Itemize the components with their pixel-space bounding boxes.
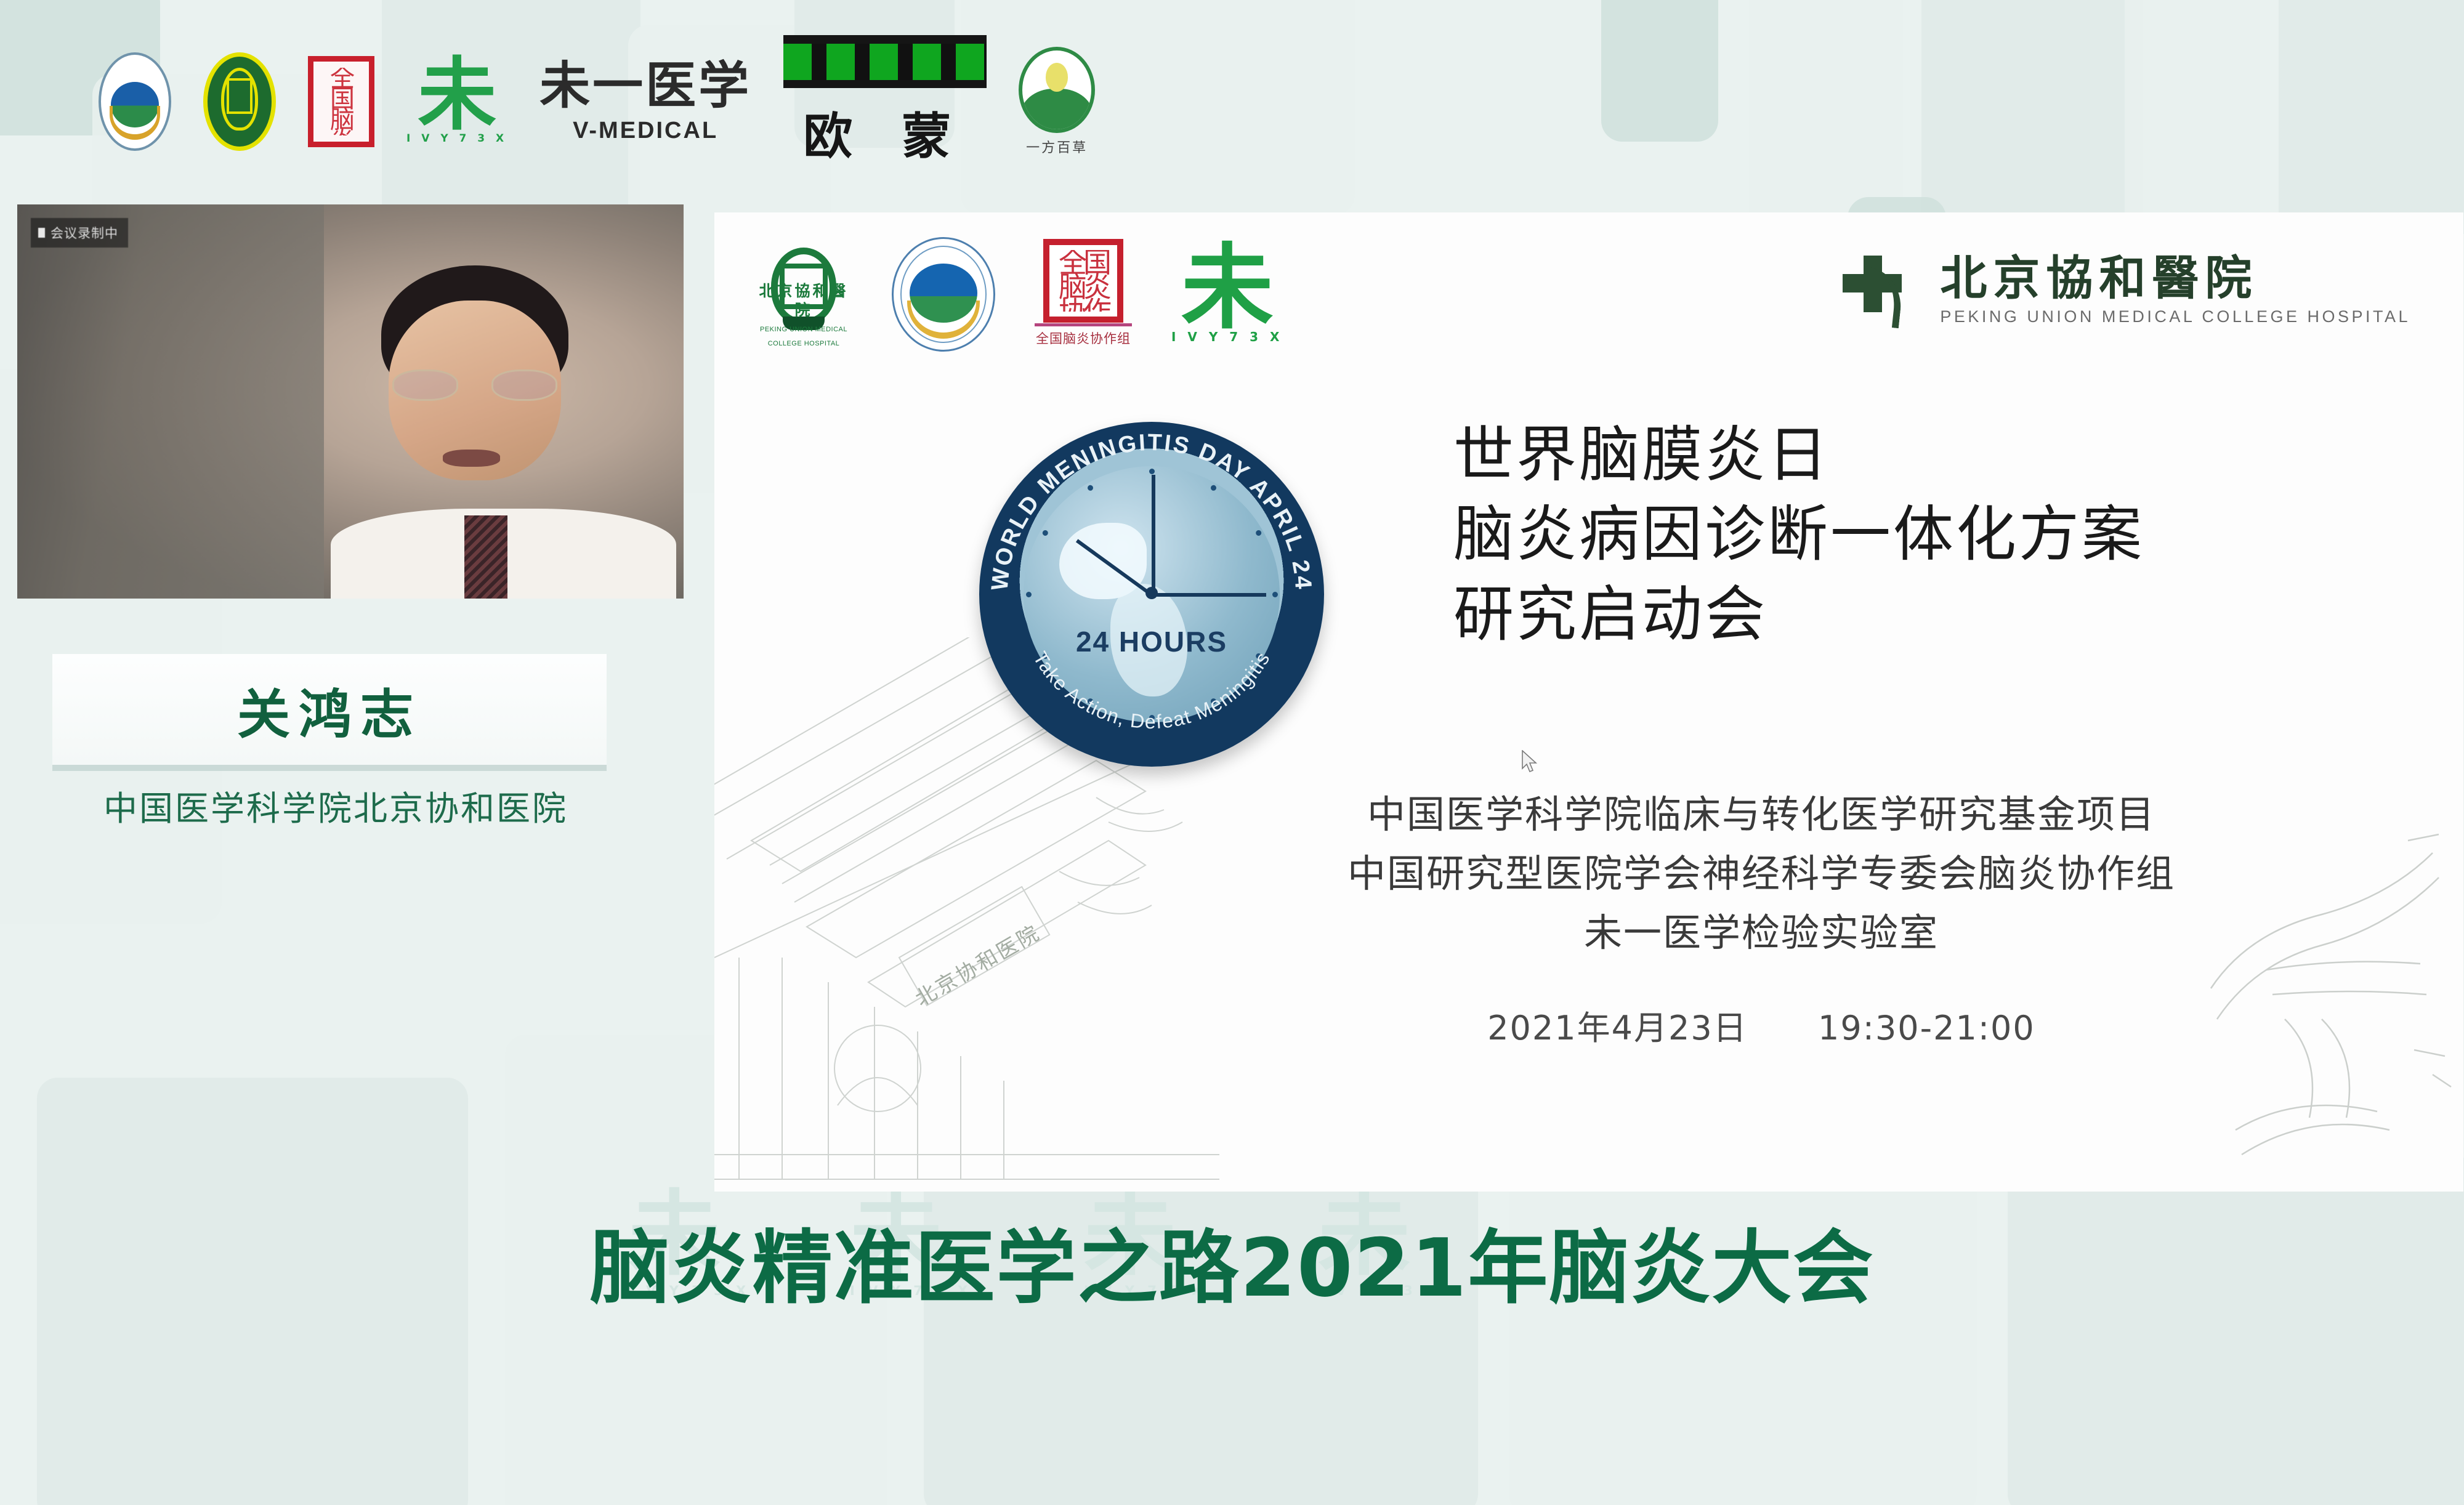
svg-text:北京协和医院: 北京协和医院 <box>911 920 1045 1012</box>
shared-slide[interactable]: 北京协和医院 北京協和醫院 PEKING UNION MEDICAL COLLE… <box>714 212 2463 1192</box>
wmd-ring-top: WORLD MENINGITIS DAY APRIL 24 <box>987 430 1316 592</box>
conference-banner: 脑炎精准医学之路2021年脑炎大会 <box>0 1185 2464 1505</box>
recording-badge: 会议录制中 <box>31 218 128 248</box>
recording-dot-icon <box>38 228 45 238</box>
vmedical-wordmark: 未一医学 V-MEDICAL <box>539 61 751 142</box>
speaker-nameplate: 关鸿志 <box>52 654 607 765</box>
speaker-affiliation: 中国医学科学院北京协和医院 <box>59 781 613 830</box>
pumch-symbol-icon <box>1835 251 1914 329</box>
slide-title-line-2: 脑炎病因诊断一体化方案 <box>1453 495 2414 575</box>
conference-banner-title: 脑炎精准医学之路2021年脑炎大会 <box>590 1203 1875 1319</box>
recording-badge-label: 会议录制中 <box>50 224 118 242</box>
slide-title-line-1: 世界脑膜炎日 <box>1453 416 2414 495</box>
weiyi-sub: I V Y 7 3 X <box>406 134 507 144</box>
weiyi-mark-icon: 未 I V Y 7 3 X <box>406 59 507 143</box>
slide-datetime: 2021年4月23日 19:30-21:00 <box>1133 1001 2389 1049</box>
sponsor-logo-bar: 全国脑炎协作 未 I V Y 7 3 X 未一医学 V-MEDICAL 欧 蒙 … <box>0 0 2464 203</box>
cma-crest-logo <box>99 52 171 151</box>
speaker-video-tile[interactable]: 会议录制中 <box>17 204 684 599</box>
crha-emblem-logo <box>892 237 995 352</box>
organizer-line-1: 中国医学科学院临床与转化医学研究基金项目 <box>1133 785 2389 844</box>
svg-text:Take Action, Defeat Meningitis: Take Action, Defeat Meningitis <box>1029 648 1274 733</box>
world-meningitis-day-badge: 24 HOURS WORLD MENINGITIS DAY APRIL 24 T… <box>979 422 1324 767</box>
green-brain-crest-logo <box>203 52 276 151</box>
slide-time: 19:30-21:00 <box>1818 1009 2035 1047</box>
weiyi-glyph: 未 <box>1181 235 1274 342</box>
organizer-line-2: 中国研究型医院学会神经科学专委会脑炎协作组 <box>1133 844 2389 903</box>
organizer-line-3: 未一医学检验实验室 <box>1133 903 2389 962</box>
encephalitis-seal-logo: 全国脑炎协作 全国脑炎协作组 <box>1043 239 1123 350</box>
wmd-ring-text: WORLD MENINGITIS DAY APRIL 24 Take Actio… <box>979 422 1324 767</box>
speaker-name: 关鸿志 <box>237 671 422 748</box>
slide-date: 2021年4月23日 <box>1487 1009 1748 1047</box>
slide-logo-row: 北京協和醫院 PEKING UNION MEDICAL COLLEGE HOSP… <box>764 237 1283 352</box>
weiyi-glyph: 未 <box>418 49 496 141</box>
encephalitis-seal-cn: 全国脑炎协作组 <box>1035 323 1132 347</box>
eave-graphic-icon <box>783 35 987 88</box>
tree-circle-logo: 一方百草 <box>1019 47 1095 156</box>
pumch-wordmark-cn: 北京協和醫院 <box>1940 254 2410 303</box>
screen-share-stage: 未I V Y 7 3 X 未I V Y 7 3 X 未I V Y 7 3 X 未… <box>0 0 2464 1505</box>
slide-organizers: 中国医学科学院临床与转化医学研究基金项目 中国研究型医院学会神经科学专委会脑炎协… <box>1133 785 2389 962</box>
pumch-crest-logo: 北京協和醫院 PEKING UNION MEDICAL COLLEGE HOSP… <box>764 240 844 349</box>
vmedical-cn: 未一医学 <box>539 61 751 111</box>
speaker-figure <box>324 252 684 599</box>
video-background <box>17 204 324 599</box>
pumch-wordmark-logo: 北京協和醫院 PEKING UNION MEDICAL COLLEGE HOSP… <box>1835 251 2410 329</box>
oumeng-logo: 欧 蒙 <box>783 35 987 168</box>
oumeng-cn: 欧 蒙 <box>783 97 987 168</box>
red-seal-logo: 全国脑炎协作 <box>308 56 374 147</box>
slide-title: 世界脑膜炎日 脑炎病因诊断一体化方案 研究启动会 <box>1453 416 2414 655</box>
vmedical-en: V-MEDICAL <box>539 119 751 142</box>
wmd-ring-bottom: Take Action, Defeat Meningitis <box>1029 648 1274 733</box>
weiyi-sub: I V Y 7 3 X <box>1171 331 1283 342</box>
svg-text:WORLD MENINGITIS DAY APRIL 24: WORLD MENINGITIS DAY APRIL 24 <box>987 430 1316 592</box>
video-feed <box>17 204 684 599</box>
slide-title-line-3: 研究启动会 <box>1453 575 2414 655</box>
pumch-crest-cn: 北京協和醫院 <box>755 282 852 321</box>
tree-logo-caption: 一方百草 <box>1019 137 1095 156</box>
pumch-crest-en: PEKING UNION MEDICAL COLLEGE HOSPITAL <box>760 326 847 348</box>
pumch-wordmark-en: PEKING UNION MEDICAL COLLEGE HOSPITAL <box>1940 307 2410 326</box>
weiyi-mark-icon: 未 I V Y 7 3 X <box>1171 247 1283 342</box>
